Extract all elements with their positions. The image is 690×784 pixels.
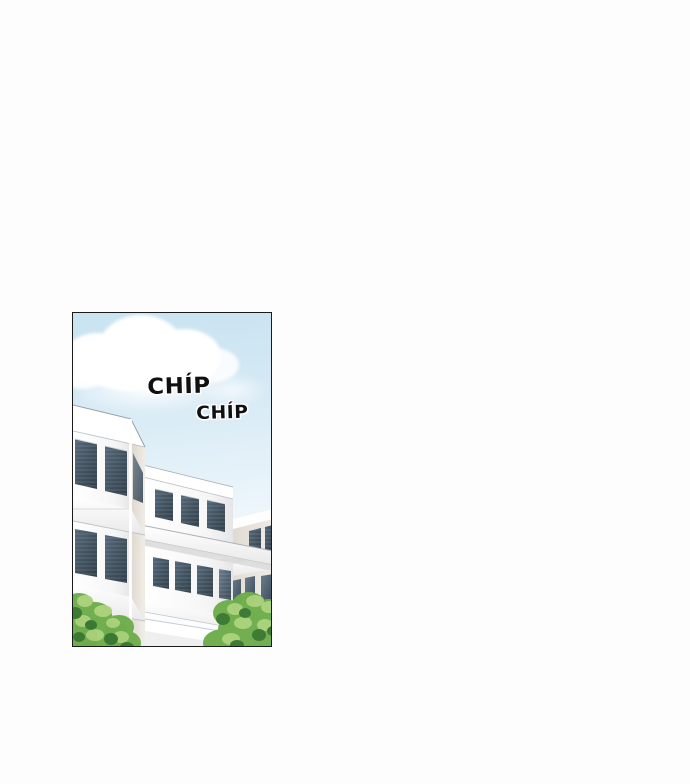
sfx-chip-primary: CHÍP: [147, 373, 211, 400]
school-building: [73, 313, 271, 646]
comic-page: CHÍP CHÍP: [0, 0, 690, 784]
sfx-chip-secondary: CHÍP: [196, 402, 249, 424]
comic-panel: CHÍP CHÍP: [72, 312, 272, 647]
